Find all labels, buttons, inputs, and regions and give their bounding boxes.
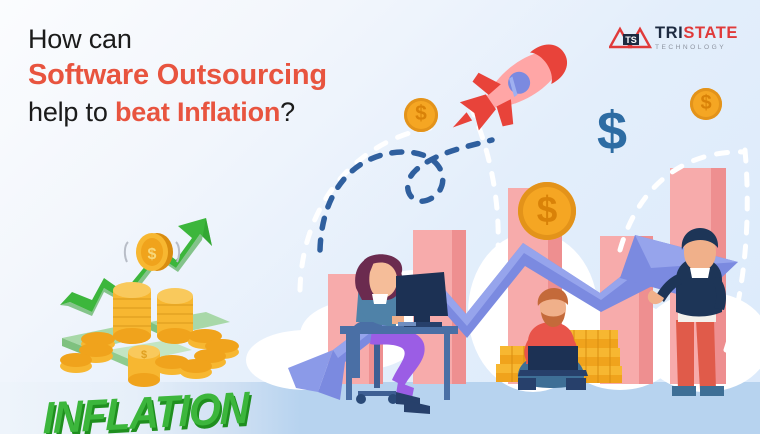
coin-pile: $ [60,282,239,387]
headline-line-1: How can [28,22,398,57]
logo-name-part-2: ST [683,24,704,42]
svg-text:$: $ [141,349,147,361]
brand-logo[interactable]: TS TRISTATE TECHNOLOGY [609,18,738,58]
marketing-banner: $ $ $ $ [0,0,760,434]
logo-mark-icon: TS [609,23,649,53]
logo-triangles-icon: TS [609,23,653,55]
headline-line-3-plain-b: ? [280,97,295,127]
headline-line-3-plain-a: help to [28,97,115,127]
spinning-coin-glyph: $ [148,246,157,263]
headline-line-2: Software Outsourcing [28,57,398,95]
logo-monogram: TS [625,35,637,45]
logo-name-part-1: TRI [655,24,683,42]
headline: How can Software Outsourcing help to bea… [28,22,398,130]
inflation-word: INFLATION [43,383,250,434]
logo-name-part-3: A [704,24,715,42]
logo-wordmark: TRISTATE TECHNOLOGY [655,25,738,52]
logo-tagline: TECHNOLOGY [655,44,738,51]
coin-spin-mark-left [125,242,128,262]
logo-name-part-4: TE [716,24,738,42]
logo-name: TRISTATE [655,25,738,42]
headline-line-3-accent: beat Inflation [115,97,280,127]
headline-line-3: help to beat Inflation? [28,95,398,130]
coin-spin-mark-right [176,242,179,262]
inflation-word-group: INFLATION INFLATION [43,383,252,434]
